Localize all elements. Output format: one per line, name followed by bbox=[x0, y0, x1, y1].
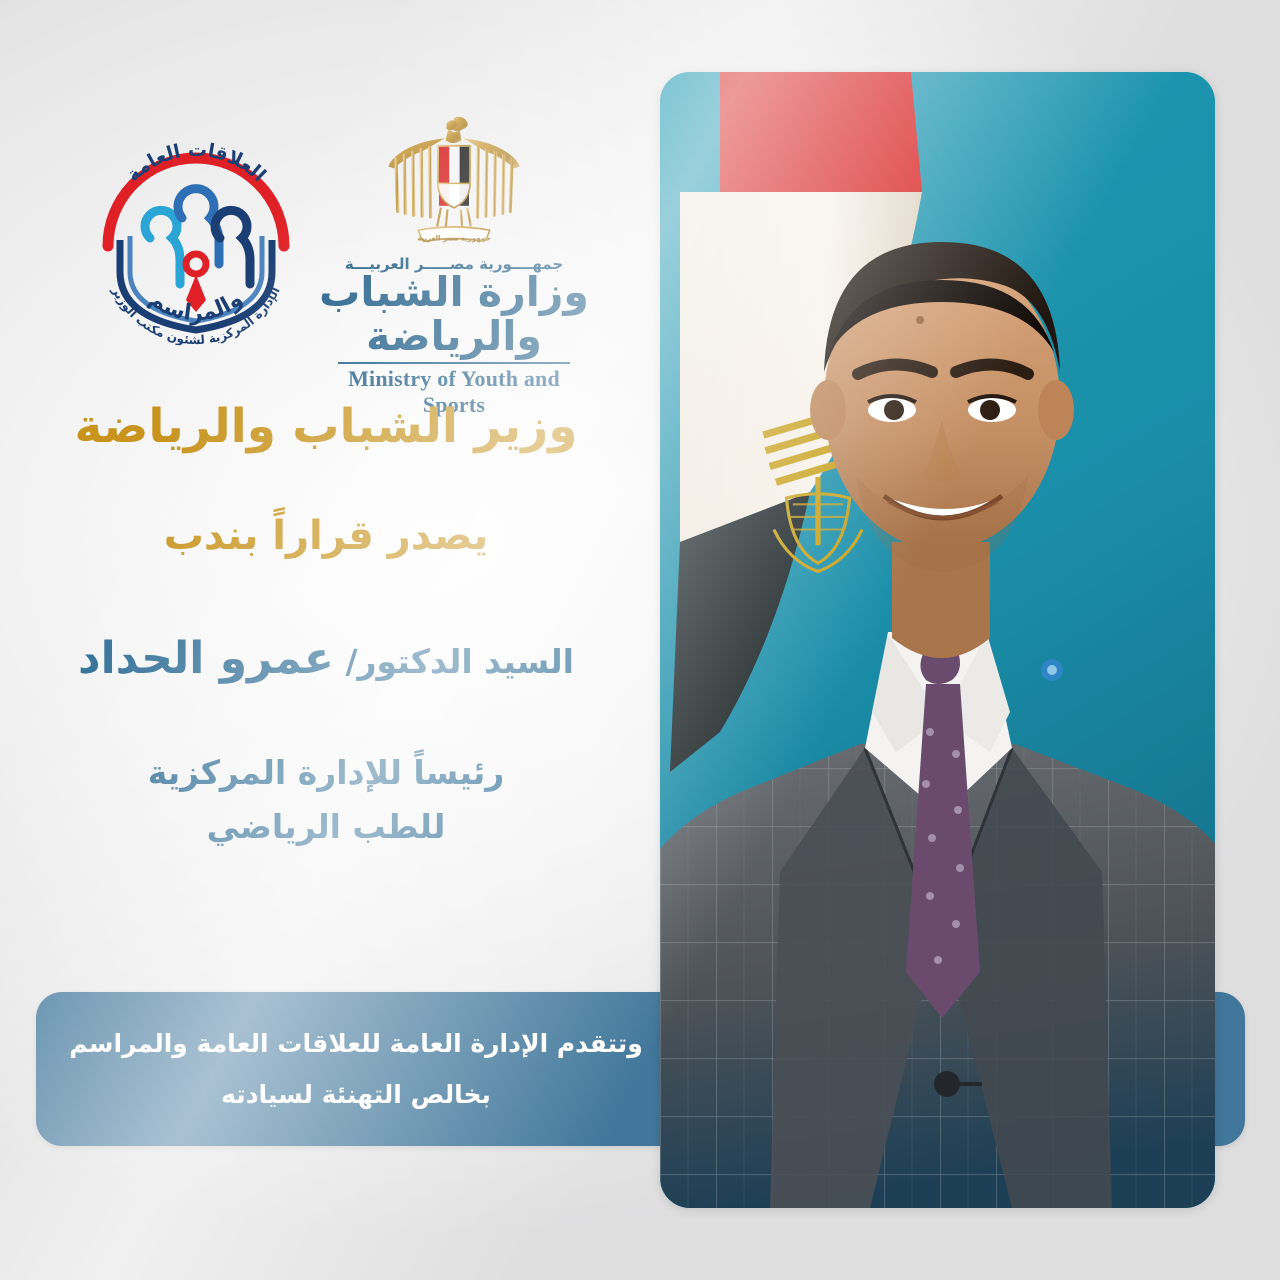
official-portrait-photo bbox=[660, 72, 1215, 1208]
announcement-title: وزير الشباب والرياضة bbox=[20, 398, 632, 456]
congratulation-banner-text: وتتقدم الإدارة العامة للعلاقات العامة وا… bbox=[36, 992, 676, 1146]
logo-row: العلاقات العامة والمراسم الإدارة المركزي… bbox=[0, 108, 620, 358]
announcement-subtitle: يصدر قراراً بندب bbox=[20, 512, 632, 562]
ministry-arabic-name: وزارة الشباب والرياضة bbox=[318, 270, 590, 359]
banner-line-1: وتتقدم الإدارة العامة للعلاقات العامة وا… bbox=[69, 1018, 642, 1069]
honoree-name: عمرو الحداد bbox=[78, 633, 334, 684]
announcement-poster: العلاقات العامة والمراسم الإدارة المركزي… bbox=[0, 0, 1280, 1280]
banner-line-2: بخالص التهنئة لسيادته bbox=[221, 1069, 491, 1120]
announcement-copy: وزير الشباب والرياضة يصدر قراراً بندب ال… bbox=[20, 398, 632, 853]
honoree-role: رئيساً للإدارة المركزية للطب الرياضي bbox=[20, 746, 632, 853]
ministry-divider bbox=[338, 362, 570, 364]
honoree-role-line-2: للطب الرياضي bbox=[20, 800, 632, 853]
honoree-title-prefix: السيد الدكتور/ bbox=[346, 642, 574, 681]
ministry-of-youth-and-sports-logo: جمهورية مصر العربية جمهــــورية مصـــــر… bbox=[318, 108, 590, 363]
honoree-role-line-1: رئيساً للإدارة المركزية bbox=[20, 746, 632, 799]
public-relations-and-protocol-logo: العلاقات العامة والمراسم الإدارة المركزي… bbox=[86, 122, 306, 347]
honoree-name-line: السيد الدكتور/ عمرو الحداد bbox=[20, 632, 632, 687]
emblem-scroll-text: جمهورية مصر العربية bbox=[417, 234, 490, 243]
egyptian-eagle-emblem-icon: جمهورية مصر العربية bbox=[379, 108, 529, 253]
